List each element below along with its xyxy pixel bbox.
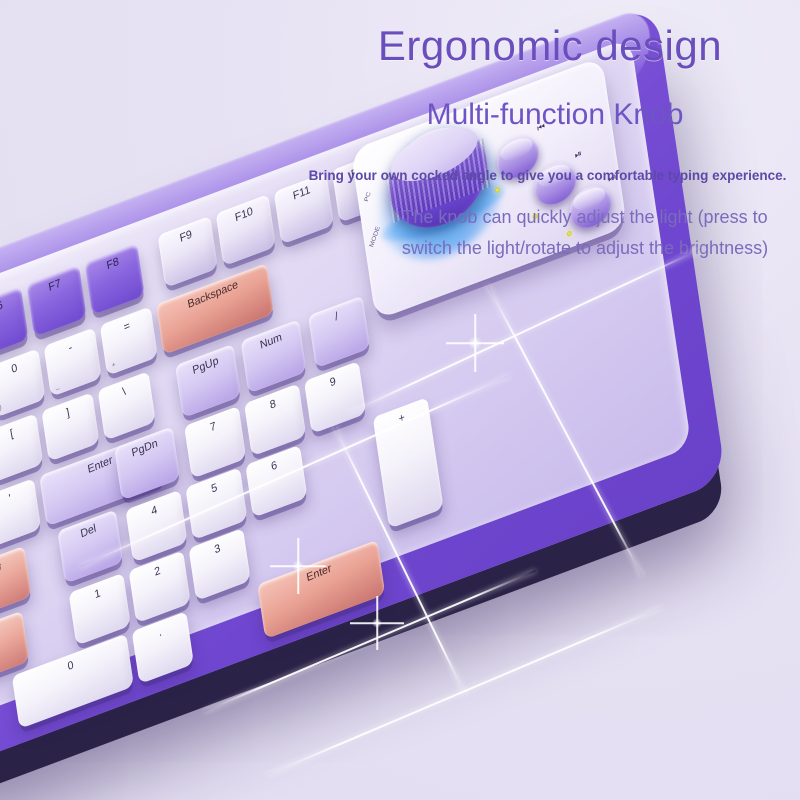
knob-label-pc: PC [363,191,372,202]
play-pause-icon: ⏯ [574,148,582,162]
key-label: 0 [67,659,75,673]
key-label: 5 [210,481,218,495]
key-label: \ [122,385,127,398]
key-label: F9 [178,228,192,245]
key-label: PgDn [131,437,159,460]
key-label: 9 [329,375,337,389]
key-label: [ [10,427,15,440]
page-subtitle: Multi-function Knob [340,98,770,132]
arrow-up-icon: ↑ [0,559,4,573]
key-label: F10 [234,205,254,224]
key-label: F7 [47,277,61,294]
key-label: 1 [94,587,102,601]
key-label: Num [259,331,283,352]
key-label: / [334,310,339,323]
key-label: 7 [209,420,217,434]
key-sublabel: + [111,361,116,370]
sparkle-icon [372,618,382,628]
sparkle-icon [292,560,304,572]
key-label: - [68,341,74,354]
key-label: 0 [10,362,18,376]
key-label: ] [66,406,71,419]
key-label: 2 [153,565,161,579]
sparkle-icon [468,336,482,350]
arrow-down-icon: ↓ [0,624,2,638]
page-title: Ergonomic design [330,22,770,70]
key-label: PgUp [192,355,220,378]
product-banner: F5 F6 F7 F8 F9 F10 F11 F12 ↵ 8 * 9 ( 0 )… [0,0,800,800]
key-label: 3 [213,542,221,556]
key-label: 6 [270,459,278,473]
key-label: F6 [0,299,3,316]
key-label: Enter [87,454,114,476]
key-sublabel: _ [55,382,60,390]
key-label: F8 [105,256,119,273]
key-label: . [158,626,163,639]
tagline-text: Bring your own cocked angle to give you … [305,168,790,183]
key-label: = [123,320,131,334]
key-label: 8 [269,398,277,412]
key-label: F11 [292,184,311,203]
description-text: The knob can quickly adjust the light (p… [380,202,790,264]
key-label: ' [8,492,12,505]
key-sublabel: ) [0,404,2,412]
key-label: 4 [150,504,158,518]
key-label: Del [79,522,97,540]
